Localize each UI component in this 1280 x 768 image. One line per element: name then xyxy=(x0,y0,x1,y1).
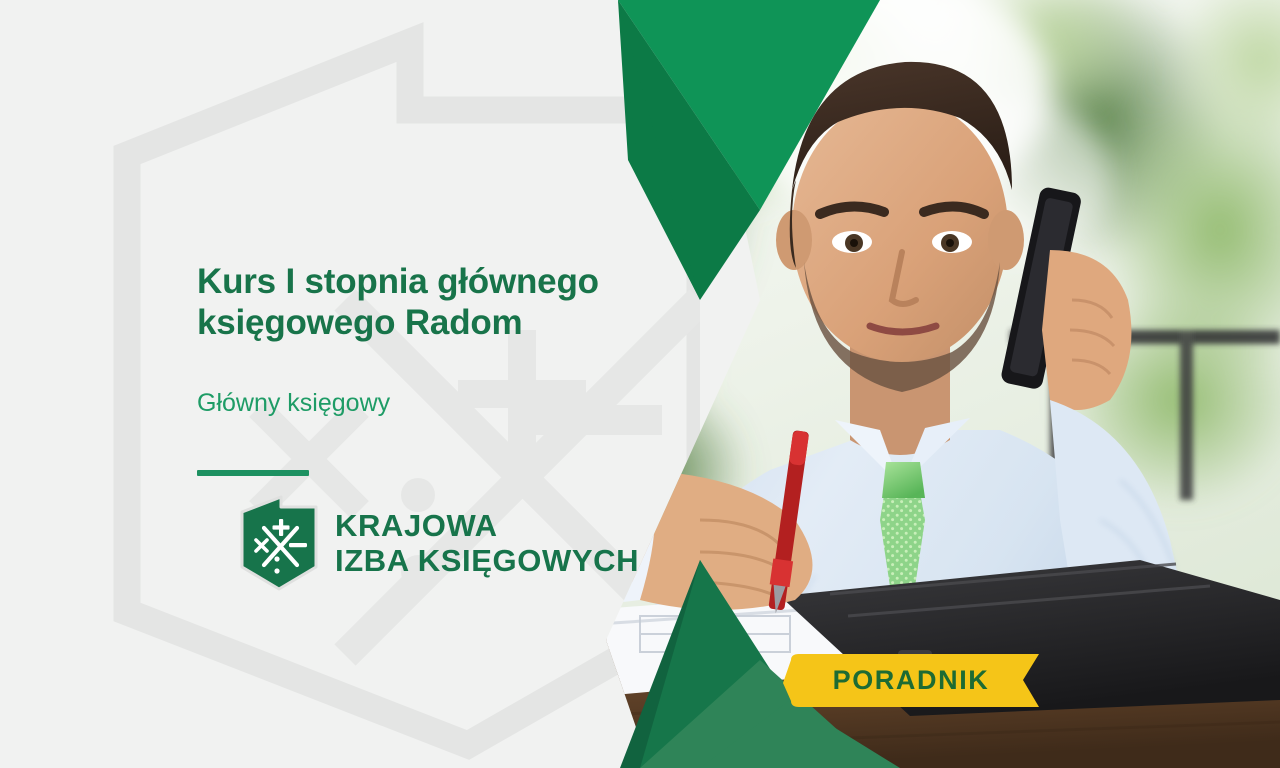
poradnik-badge[interactable]: PORADNIK xyxy=(783,652,1045,709)
logo-wordmark: KRAJOWA IZBA KSIĘGOWYCH xyxy=(335,510,639,576)
logo-line-2: IZBA KSIĘGOWYCH xyxy=(335,545,639,576)
page-subtitle: Główny księgowy xyxy=(197,388,667,418)
logo-line-1: KRAJOWA xyxy=(335,510,639,541)
text-block: Kurs I stopnia głównego księgowego Radom… xyxy=(197,262,667,476)
page-title: Kurs I stopnia głównego księgowego Radom xyxy=(197,262,667,344)
face xyxy=(792,98,1008,362)
shield-math-symbols-icon xyxy=(237,495,321,591)
badge-label: PORADNIK xyxy=(783,652,1045,709)
left-content-panel: Kurs I stopnia głównego księgowego Radom… xyxy=(0,0,700,768)
brand-logo[interactable]: KRAJOWA IZBA KSIĘGOWYCH xyxy=(237,495,639,591)
divider-rule xyxy=(197,470,309,476)
banner-root: Kurs I stopnia głównego księgowego Radom… xyxy=(0,0,1280,768)
